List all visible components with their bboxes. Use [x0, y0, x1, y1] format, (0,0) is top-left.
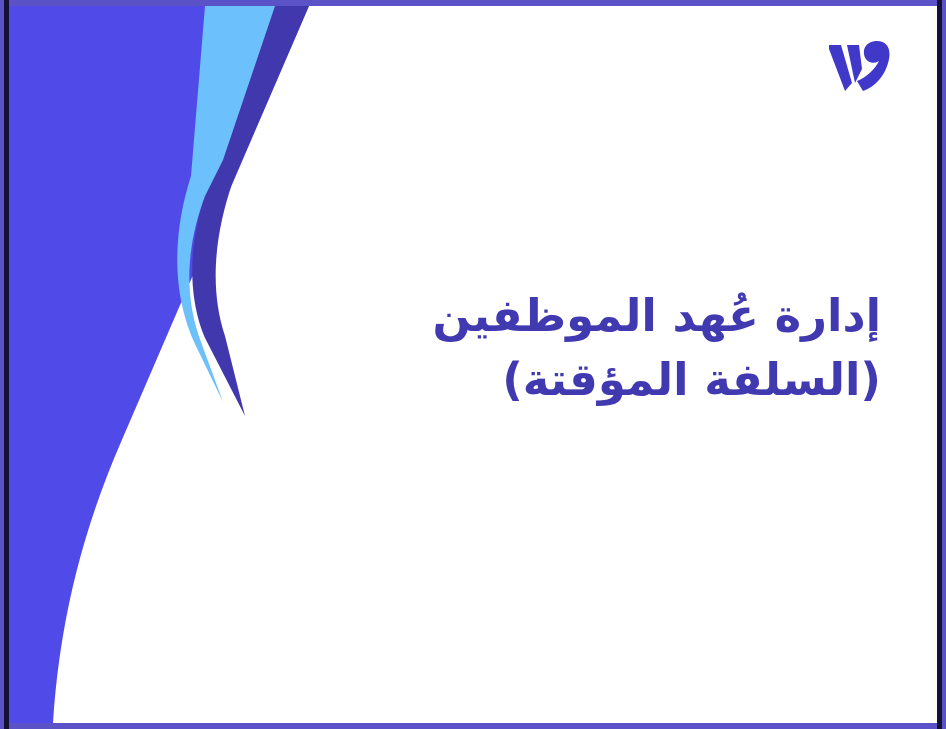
frame-edge-shadow-right: [937, 0, 942, 729]
slide-title: إدارة عُهد الموظفين (السلفة المؤقتة): [261, 284, 881, 412]
w-comma-logo-icon: [827, 39, 891, 95]
slide-title-line-2: (السلفة المؤقتة): [261, 348, 881, 412]
slide-title-line-1: إدارة عُهد الموظفين: [261, 284, 881, 348]
slide-frame: إدارة عُهد الموظفين (السلفة المؤقتة): [0, 0, 946, 729]
frame-edge-shadow-left: [4, 0, 9, 729]
slide-canvas: إدارة عُهد الموظفين (السلفة المؤقتة): [9, 6, 937, 723]
